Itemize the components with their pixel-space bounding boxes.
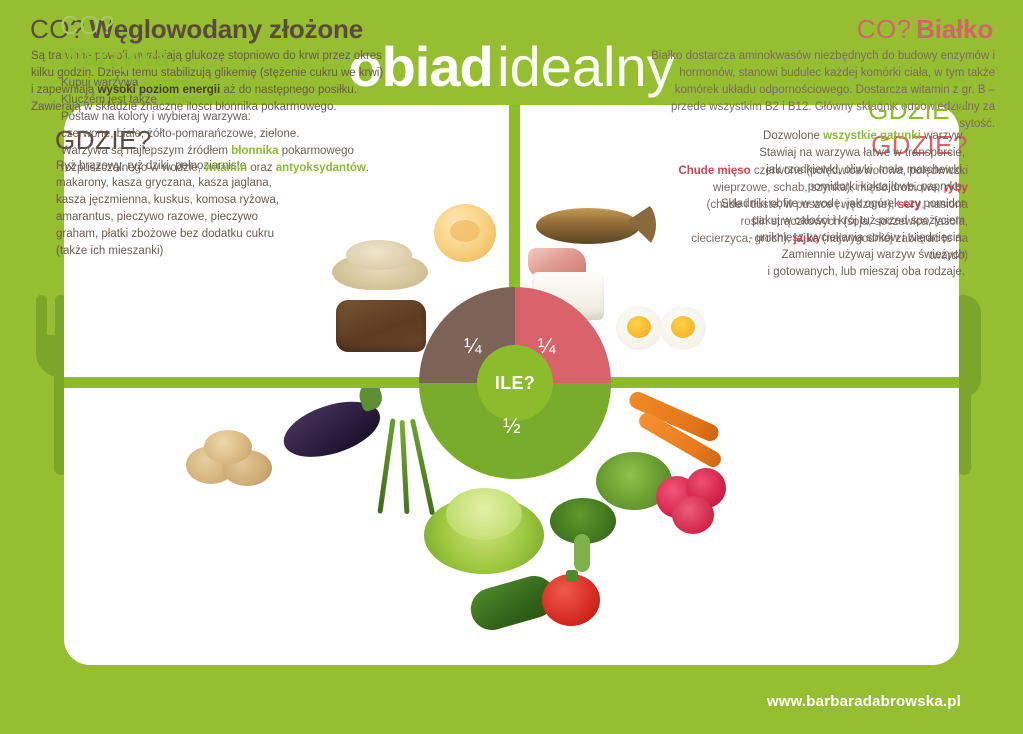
- footer-website-url[interactable]: www.barbaradabrowska.pl: [767, 693, 961, 710]
- portion-value-carbohydrates: ¼: [464, 335, 482, 359]
- vegetables-description: Kupuj warzywa sezonowe.Kluczem jest takż…: [61, 75, 421, 177]
- portion-value-vegetables: ½: [503, 415, 521, 439]
- protein-name: Białko: [916, 14, 993, 44]
- vegetables-name: Warzywa: [60, 42, 169, 72]
- portion-value-protein: ¼: [538, 335, 556, 359]
- vegetables-sources: Dozwolone wszystkie gatunki warzyw.Stawi…: [665, 128, 965, 281]
- protein-co-label: CO?: [857, 14, 912, 44]
- pie-center-label: ILE?: [477, 363, 553, 403]
- protein-heading: CO? Białko: [857, 14, 993, 45]
- vegetables-gdzie-label: GDZIE?: [868, 95, 965, 126]
- portion-pie-chart: ¼ ¼ ½ ILE?: [419, 287, 611, 479]
- vegetables-co-label: CO?: [60, 10, 169, 40]
- vegetables-heading: CO? Warzywa: [60, 10, 169, 72]
